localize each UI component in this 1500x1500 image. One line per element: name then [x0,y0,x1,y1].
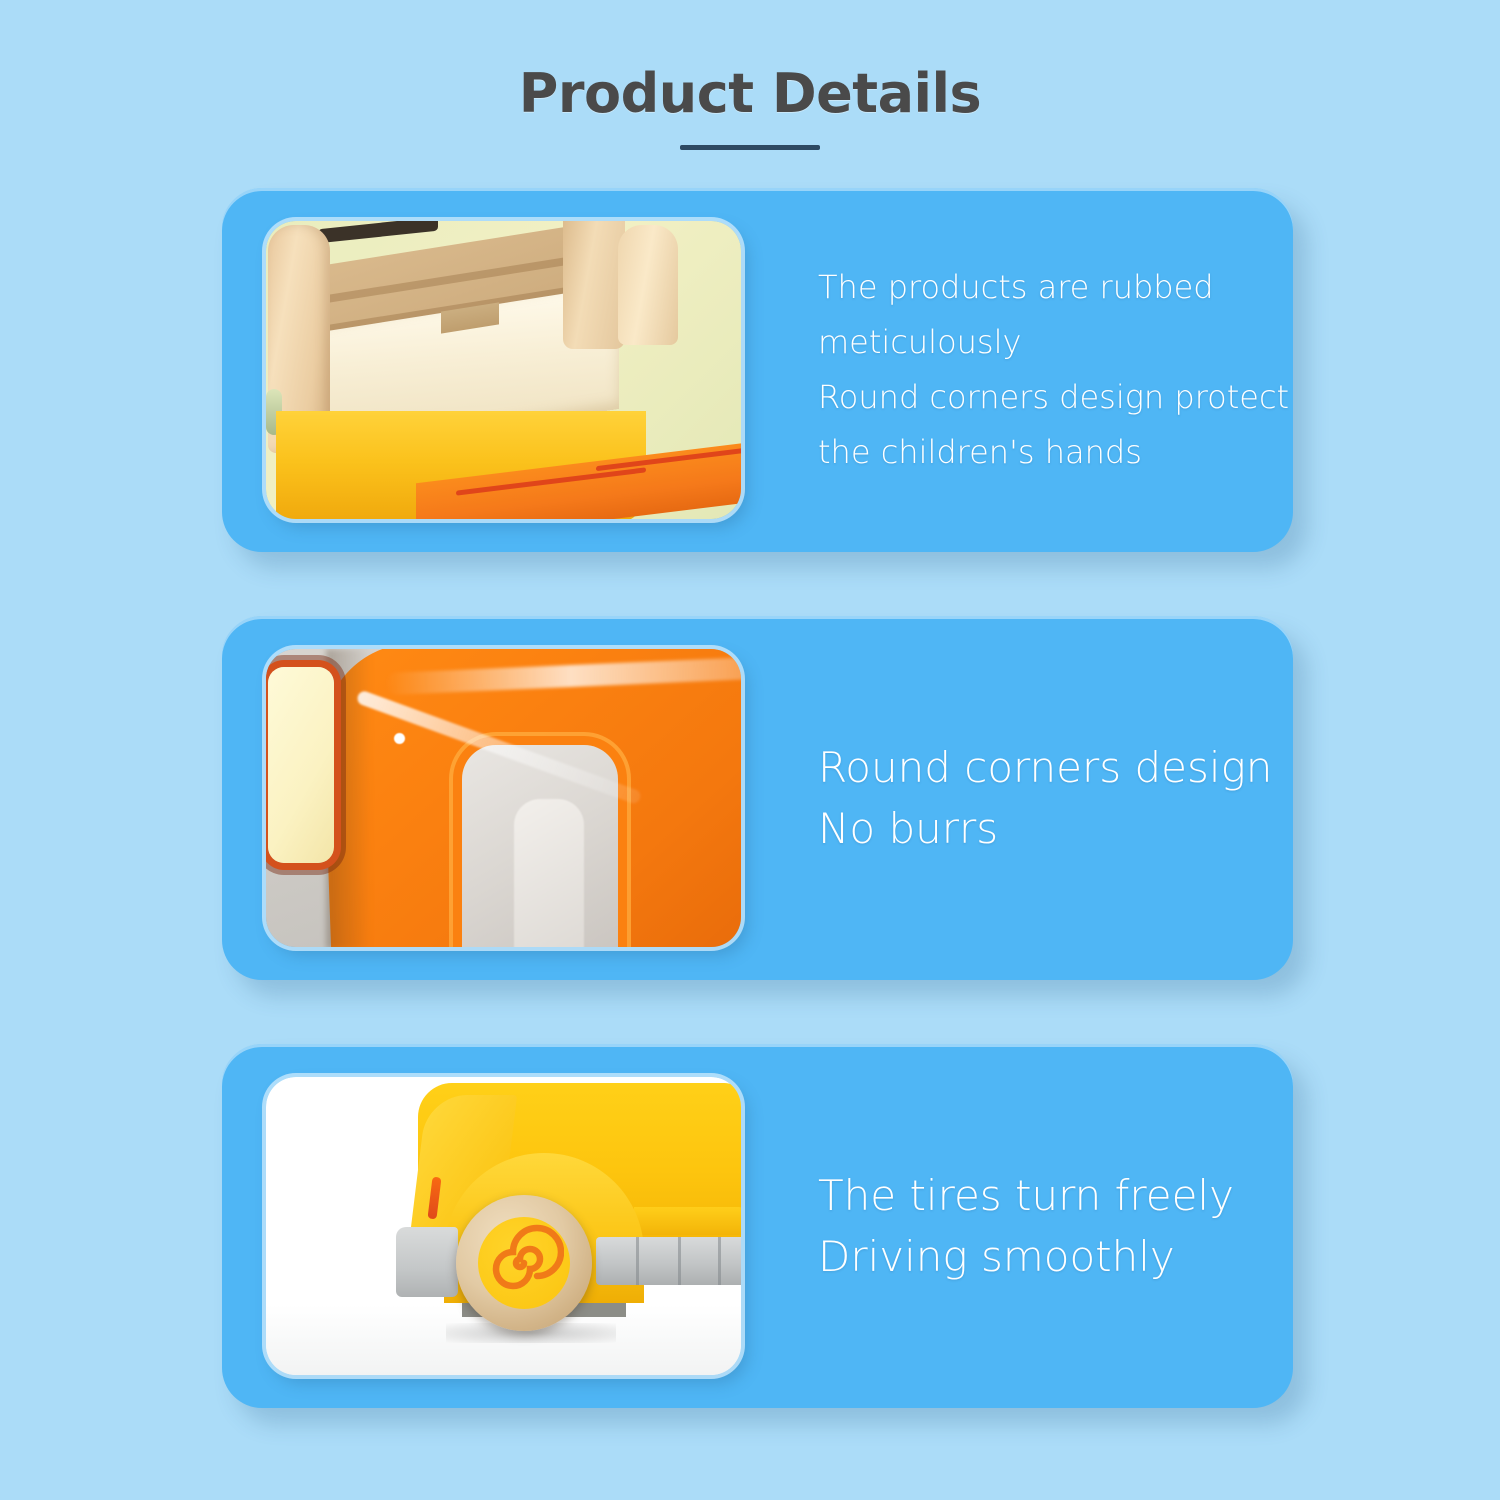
card-3-text-block: The tires turn freely Driving smoothly [818,1044,1253,1408]
card-1-text-block: The products are rubbed meticulously Rou… [818,188,1253,552]
card-1-line-4: the children's hands [818,425,1253,480]
wooden-wheel-photo [266,1077,741,1375]
page-header: Product Details [0,0,1500,180]
spiral-icon [484,1223,564,1303]
detail-card-1: The products are rubbed meticulously Rou… [222,188,1293,552]
detail-card-2: Round corners design No burrs [222,616,1293,980]
wooden-truck-bed-photo [266,221,741,519]
title-underline-divider [680,145,820,150]
page-title: Product Details [0,62,1500,125]
detail-card-3: The tires turn freely Driving smoothly [222,1044,1293,1408]
card-1-line-1: The products are rubbed [818,260,1253,315]
card-3-line-2: Driving smoothly [818,1226,1253,1287]
card-3-line-1: The tires turn freely [818,1165,1253,1226]
orange-rounded-corner-photo [266,649,741,947]
card-2-line-1: Round corners design [818,737,1253,798]
card-2-line-2: No burrs [818,798,1253,859]
card-2-text-block: Round corners design No burrs [818,616,1253,980]
card-1-line-3: Round corners design protect [818,370,1253,425]
card-1-line-2: meticulously [818,315,1253,370]
